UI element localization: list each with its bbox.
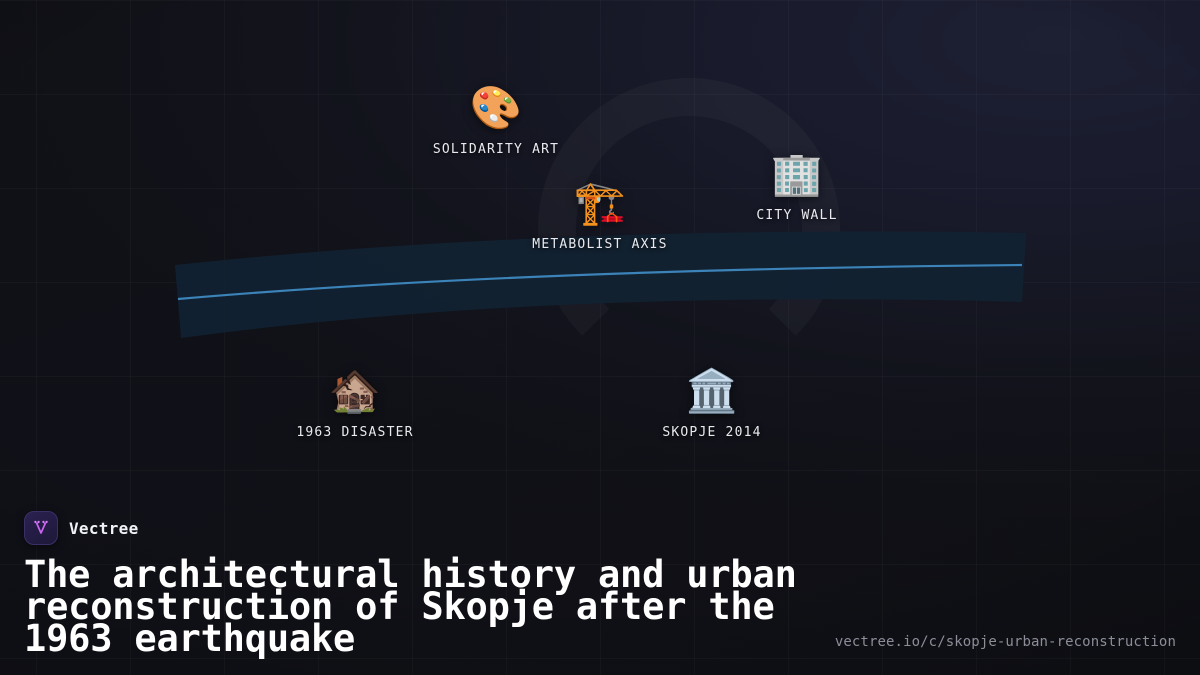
page-title: The architectural history and urban reco… xyxy=(24,559,814,655)
construction-crane-icon: 🏗️ xyxy=(574,179,626,227)
map-node-skopje-2014[interactable]: 🏛️ SKOPJE 2014 xyxy=(662,367,761,440)
map-node-label: SKOPJE 2014 xyxy=(662,425,761,440)
map-node-1963-disaster[interactable]: 🏚️ 1963 DISASTER xyxy=(296,367,413,440)
map-node-solidarity-art[interactable]: 🎨 SOLIDARITY ART xyxy=(433,84,559,157)
map-node-label: 1963 DISASTER xyxy=(296,425,413,440)
map-node-city-wall[interactable]: 🏢 CITY WALL xyxy=(756,150,837,223)
office-building-icon: 🏢 xyxy=(771,150,823,198)
map-node-label: METABOLIST AXIS xyxy=(532,237,667,252)
map-node-label: CITY WALL xyxy=(756,208,837,223)
share-card-canvas: 🎨 SOLIDARITY ART 🏗️ METABOLIST AXIS 🏢 CI… xyxy=(0,0,1200,675)
artist-palette-icon: 🎨 xyxy=(470,84,522,132)
card-footer: Vectree The architectural history and ur… xyxy=(24,511,1176,655)
brand-name: Vectree xyxy=(69,519,139,538)
vectree-logo-icon xyxy=(24,511,58,545)
map-node-metabolist-axis[interactable]: 🏗️ METABOLIST AXIS xyxy=(532,179,667,252)
classical-building-icon: 🏛️ xyxy=(686,367,738,415)
share-url: vectree.io/c/skopje-urban-reconstruction xyxy=(835,634,1176,650)
derelict-house-icon: 🏚️ xyxy=(329,367,381,415)
map-node-label: SOLIDARITY ART xyxy=(433,142,559,157)
brand-row[interactable]: Vectree xyxy=(24,511,1176,545)
